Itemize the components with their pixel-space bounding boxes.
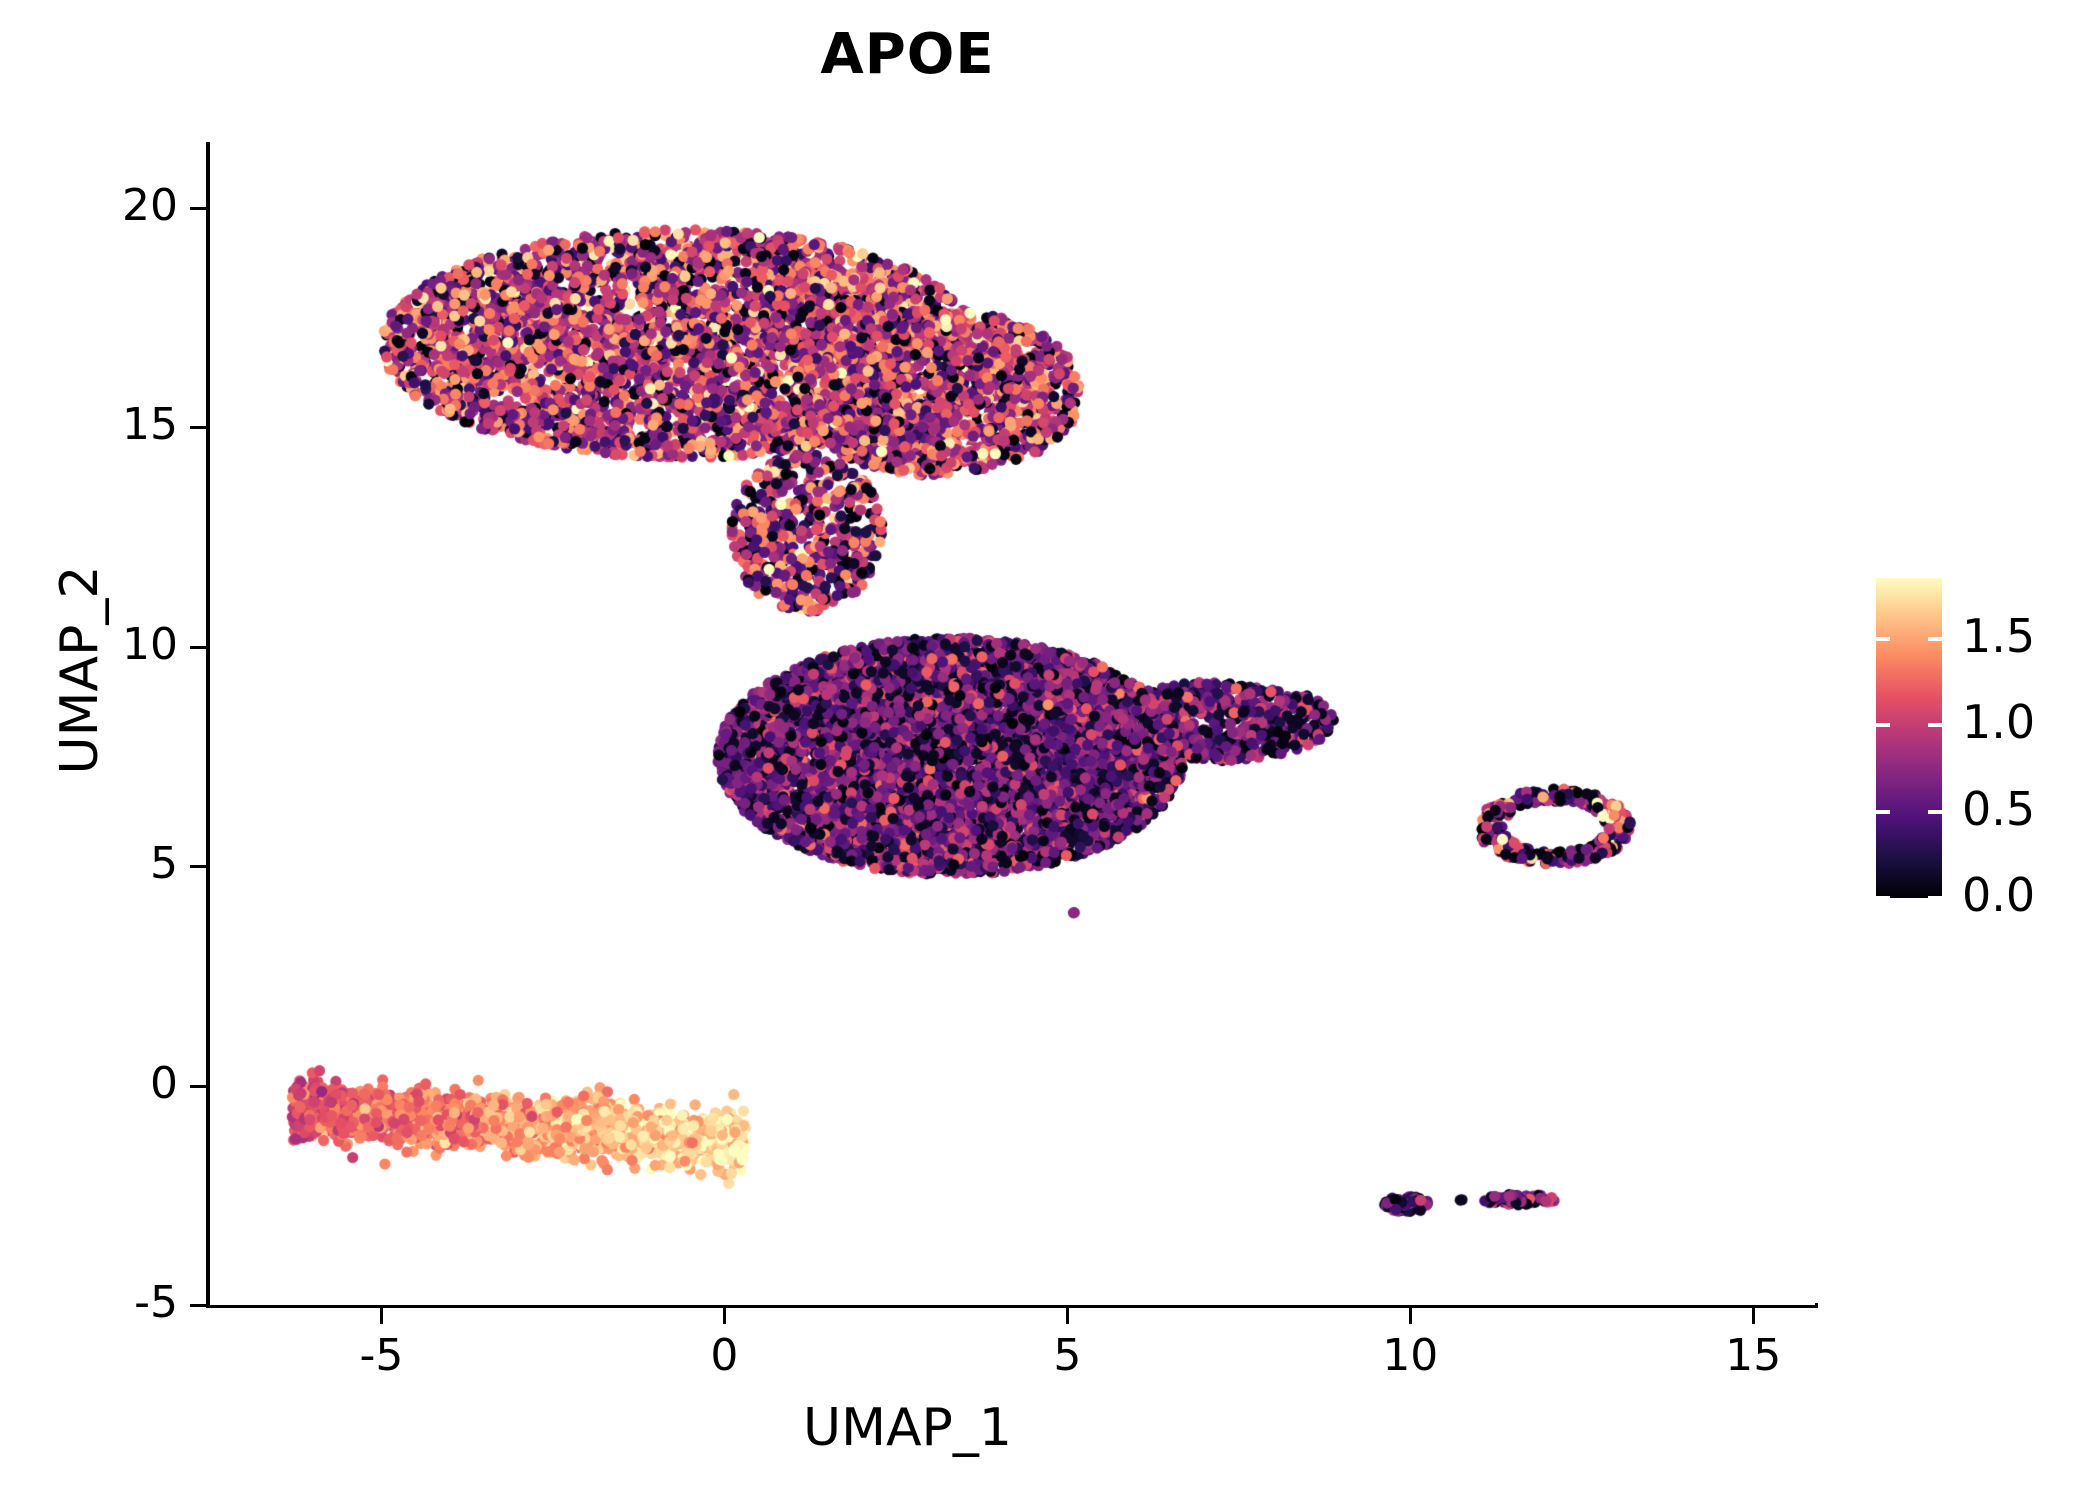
colorbar-tick-label: 0.0 [1962, 868, 2035, 922]
x-tick-label: 0 [644, 1330, 804, 1381]
figure-canvas: APOE -5051015 20151050-5 UMAP_1 UMAP_2 1… [0, 0, 2100, 1500]
y-tick-mark [190, 426, 206, 429]
x-tick-label: -5 [301, 1330, 461, 1381]
scatter-points [210, 142, 1815, 1305]
y-tick-mark [190, 1085, 206, 1088]
y-tick-mark [190, 865, 206, 868]
x-tick-mark [1752, 1308, 1755, 1324]
y-tick-mark [190, 207, 206, 210]
x-tick-mark [1066, 1308, 1069, 1324]
plot-area [210, 142, 1815, 1305]
x-tick-mark [723, 1308, 726, 1324]
x-tick-label: 5 [987, 1330, 1147, 1381]
y-tick-mark [190, 1304, 206, 1307]
colorbar-tick-mark [1876, 896, 1890, 900]
x-tick-label: 15 [1673, 1330, 1833, 1381]
colorbar-tick-mark [1876, 723, 1890, 727]
x-tick-mark [380, 1308, 383, 1324]
colorbar-tick-label: 0.5 [1962, 782, 2035, 836]
y-tick-label: -5 [28, 1277, 178, 1328]
colorbar-tick-mark [1928, 810, 1942, 814]
y-axis-label: UMAP_2 [50, 270, 110, 1070]
colorbar-tick-mark [1876, 637, 1890, 641]
colorbar [1876, 578, 1942, 898]
colorbar-tick-label: 1.5 [1962, 609, 2035, 663]
colorbar-tick-label: 1.0 [1962, 695, 2035, 749]
chart-title: APOE [0, 22, 1815, 87]
x-tick-mark [1409, 1308, 1412, 1324]
y-tick-mark [190, 646, 206, 649]
colorbar-tick-mark [1928, 637, 1942, 641]
colorbar-tick-mark [1928, 896, 1942, 900]
colorbar-gradient [1876, 578, 1942, 898]
colorbar-tick-mark [1876, 810, 1890, 814]
x-axis-label: UMAP_1 [0, 1398, 1815, 1458]
y-tick-label: 20 [28, 180, 178, 231]
colorbar-tick-mark [1928, 723, 1942, 727]
x-tick-label: 10 [1330, 1330, 1490, 1381]
